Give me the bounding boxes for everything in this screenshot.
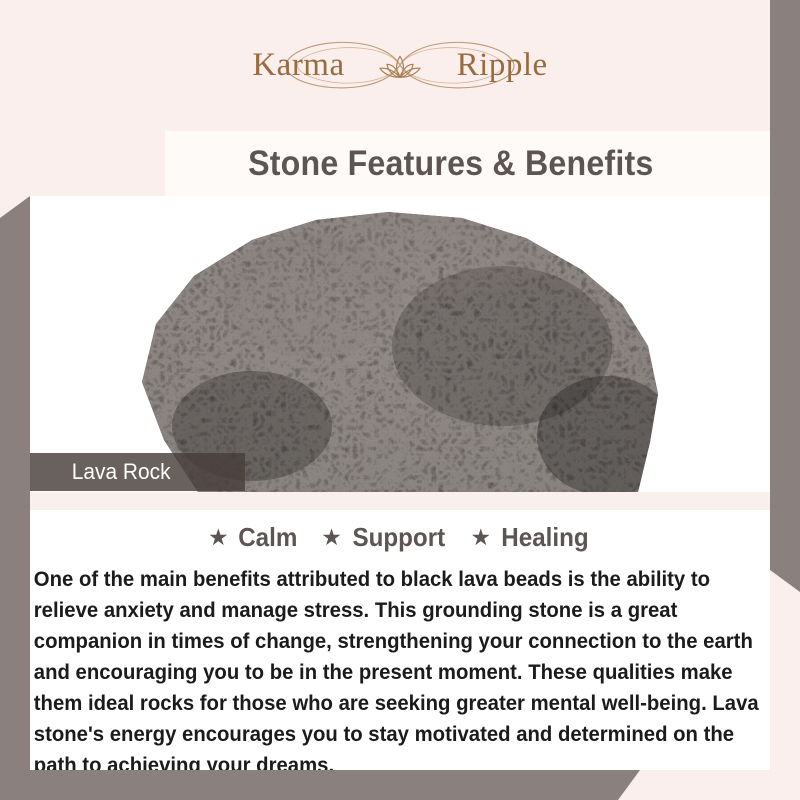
benefit-item: ★ Healing xyxy=(470,522,592,553)
lava-rock-image xyxy=(102,196,698,492)
brand-word-left: Karma xyxy=(252,47,344,84)
frame-band-left xyxy=(0,196,30,770)
frame-band-right xyxy=(770,30,800,592)
brand-logo: Karma Ripple xyxy=(30,34,770,96)
stone-photo xyxy=(102,196,698,492)
lotus-icon xyxy=(378,49,422,83)
photo-content-divider xyxy=(30,492,770,510)
benefit-item: ★ Calm xyxy=(208,522,299,553)
stone-name-badge: Lava Rock xyxy=(30,453,245,491)
title-panel: Stone Features & Benefits xyxy=(165,131,770,196)
benefits-description: One of the main benefits attributed to b… xyxy=(30,564,770,770)
stone-benefits-poster: Karma Ripple Stone Features & Bene xyxy=(0,0,800,800)
benefits-row: ★ Calm ★ Support ★ Healing xyxy=(30,510,770,553)
benefit-label: Healing xyxy=(501,522,588,553)
content-area: ★ Calm ★ Support ★ Healing One of the ma… xyxy=(30,510,770,770)
stone-name-label: Lava Rock xyxy=(30,459,171,485)
benefit-label: Calm xyxy=(238,522,297,553)
benefit-item: ★ Support xyxy=(321,522,448,553)
star-icon: ★ xyxy=(321,526,342,549)
stone-photo-area: Lava Rock xyxy=(30,196,770,492)
star-icon: ★ xyxy=(208,526,229,549)
poster-card: Karma Ripple Stone Features & Bene xyxy=(30,0,770,770)
benefit-label: Support xyxy=(352,522,445,553)
star-icon: ★ xyxy=(470,526,491,549)
brand-word-right: Ripple xyxy=(457,47,548,84)
page-title: Stone Features & Benefits xyxy=(248,144,687,184)
frame-band-bottom xyxy=(0,770,640,800)
poster-header: Karma Ripple Stone Features & Bene xyxy=(30,0,770,196)
